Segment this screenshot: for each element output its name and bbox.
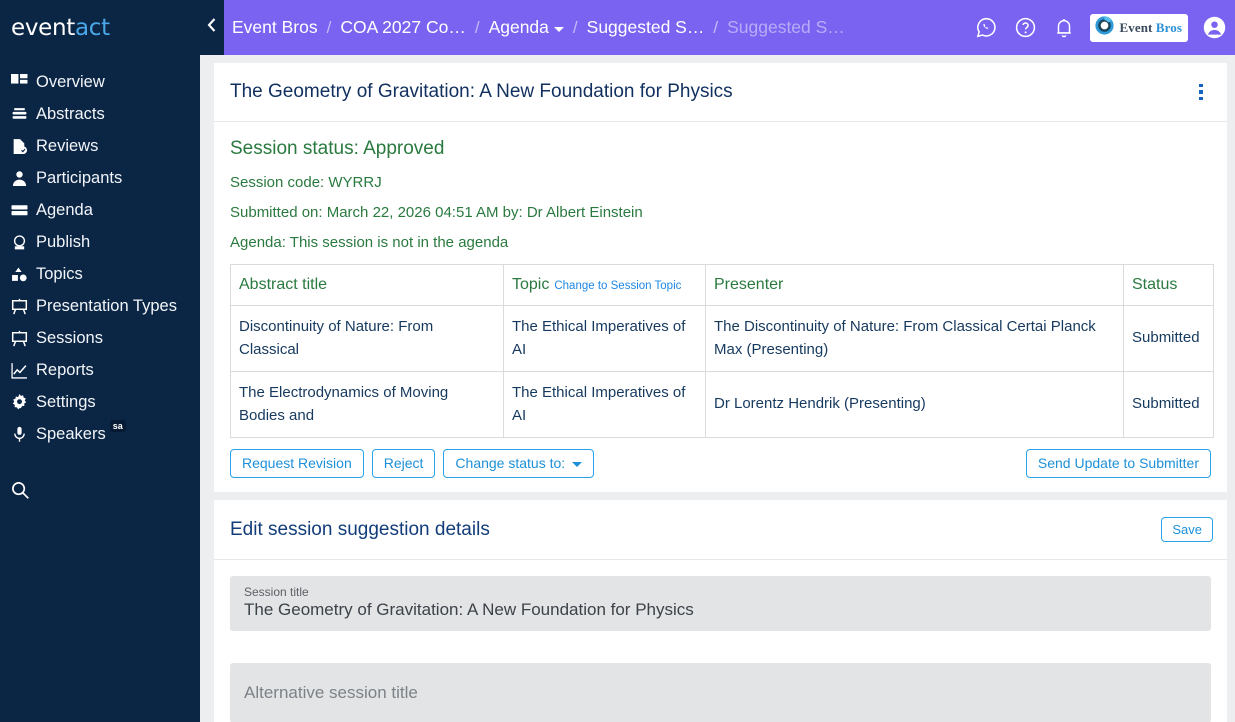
sidebar-item-label: Reviews [36,137,98,156]
column-header-abstract-title: Abstract title [231,265,504,306]
session-code: Session code: WYRRJ [230,174,1211,191]
sidebar-item-sessions[interactable]: Sessions [0,322,200,354]
cell-status: Submitted [1124,306,1214,372]
microphone-icon [11,426,36,443]
breadcrumb-separator: / [573,18,578,38]
app-logo[interactable]: eventact [0,0,200,55]
alternative-session-title-input[interactable]: Alternative session title [244,683,1197,703]
event-bros-swirl-icon [1094,15,1115,41]
column-header-topic: TopicChange to Session Topic [504,265,706,306]
chevron-down-icon [572,462,582,467]
edit-card-title: Edit session suggestion details [230,519,490,541]
sidebar-item-label: Publish [36,233,90,252]
breadcrumb-item-conference[interactable]: COA 2027 Co… [340,17,465,38]
shapes-icon [11,266,36,283]
help-circle-icon[interactable] [1012,15,1038,41]
sidebar-item-label: Presentation Types [36,297,177,316]
status-badge: sa [110,420,126,432]
sidebar-item-label: Participants [36,169,122,188]
reject-button[interactable]: Reject [372,449,436,478]
agenda-bars-icon [11,202,36,219]
session-card-body: Session status: Approved Session code: W… [214,122,1227,492]
sidebar-item-agenda[interactable]: Agenda [0,194,200,226]
search-icon [11,481,36,500]
publish-printer-icon [11,234,36,251]
sidebar-item-presentation-types[interactable]: Presentation Types [0,290,200,322]
column-header-presenter: Presenter [706,265,1124,306]
easel-icon [11,330,36,347]
send-update-to-submitter-button[interactable]: Send Update to Submitter [1026,449,1211,478]
content-scroll-region[interactable]: The Geometry of Gravitation: A New Found… [200,55,1235,722]
chevron-down-icon [554,27,564,32]
cell-topic: The Ethical Imperatives of AI [504,372,706,438]
top-header-bar: Event Bros / COA 2027 Co… / Agenda / Sug… [200,0,1235,55]
main-area: Event Bros / COA 2027 Co… / Agenda / Sug… [200,0,1235,722]
sidebar-item-label-text: Speakers [36,425,106,443]
sidebar-item-label: Overview [36,73,105,92]
cell-abstract-title: Discontinuity of Nature: From Classical [231,306,504,372]
session-title-field[interactable]: Session title The Geometry of Gravitatio… [230,576,1211,631]
alternative-session-title-field[interactable]: Alternative session title [230,663,1211,722]
change-status-dropdown[interactable]: Change status to: [443,449,594,478]
session-action-row: Request Revision Reject Change status to… [230,449,1211,478]
cell-status: Submitted [1124,372,1214,438]
breadcrumb-item-label: Agenda [489,17,549,38]
edit-session-card: Edit session suggestion details Save Ses… [214,500,1227,722]
sidebar-item-abstracts[interactable]: Abstracts [0,98,200,130]
chart-line-icon [11,362,36,379]
edit-card-header: Edit session suggestion details Save [214,500,1227,561]
table-row[interactable]: Discontinuity of Nature: From Classical … [231,306,1214,372]
dashboard-grid-icon [11,74,36,91]
user-avatar-icon[interactable] [1201,15,1227,41]
sidebar-search-button[interactable] [0,474,200,506]
whatsapp-icon[interactable] [973,15,999,41]
request-revision-button[interactable]: Request Revision [230,449,364,478]
breadcrumb-item-suggested-sessions[interactable]: Suggested S… [587,17,705,38]
session-submitted-info: Submitted on: March 22, 2026 04:51 AM by… [230,204,1211,221]
sidebar-item-overview[interactable]: Overview [0,66,200,98]
stacked-layers-icon [11,106,36,123]
session-detail-card: The Geometry of Gravitation: A New Found… [214,63,1227,492]
kebab-menu-icon[interactable] [1189,80,1213,104]
breadcrumb-separator: / [713,18,718,38]
breadcrumb: Event Bros / COA 2027 Co… / Agenda / Sug… [232,17,973,38]
session-title-input[interactable]: The Geometry of Gravitation: A New Found… [244,600,1197,620]
header-actions: Event Bros [973,14,1227,42]
sidebar-item-label: Speakerssa [36,425,106,444]
sidebar-item-publish[interactable]: Publish [0,226,200,258]
edit-card-body: Session title The Geometry of Gravitatio… [214,560,1227,722]
session-title-label: Session title [244,585,1197,599]
column-header-topic-label: Topic [512,276,549,293]
sidebar-item-speakers[interactable]: Speakerssa [0,418,200,450]
chevron-left-icon [205,16,219,39]
bell-icon[interactable] [1051,15,1077,41]
brand-label-event: Event [1119,20,1155,35]
session-status: Session status: Approved [230,138,1211,160]
cell-abstract-title: The Electrodynamics of Moving Bodies and [231,372,504,438]
sidebar-item-settings[interactable]: Settings [0,386,200,418]
sidebar-item-label: Agenda [36,201,93,220]
cell-topic: The Ethical Imperatives of AI [504,306,706,372]
session-agenda-info: Agenda: This session is not in the agend… [230,234,1211,251]
change-to-session-topic-link[interactable]: Change to Session Topic [554,280,681,292]
left-button-group: Request Revision Reject Change status to… [230,449,594,478]
brand-label: Event Bros [1119,20,1182,36]
breadcrumb-item-agenda[interactable]: Agenda [489,17,564,38]
sidebar-item-label: Reports [36,361,94,380]
abstracts-table: Abstract title TopicChange to Session To… [230,264,1214,438]
breadcrumb-item-event-bros[interactable]: Event Bros [232,17,318,38]
page-title: The Geometry of Gravitation: A New Found… [230,81,733,103]
sidebar: eventact Overview Abstracts Revie [0,0,200,722]
sidebar-item-label: Abstracts [36,105,105,124]
app-root: eventact Overview Abstracts Revie [0,0,1235,722]
sidebar-item-participants[interactable]: Participants [0,162,200,194]
sidebar-item-label: Topics [36,265,83,284]
person-icon [11,170,36,187]
logo-text-act: act [75,15,110,41]
easel-icon [11,298,36,315]
column-header-status: Status [1124,265,1214,306]
sidebar-item-label: Sessions [36,329,103,348]
cell-presenter: The Discontinuity of Nature: From Classi… [706,306,1124,372]
sidebar-item-topics[interactable]: Topics [0,258,200,290]
sidebar-nav: Overview Abstracts Reviews Participants [0,66,200,506]
session-card-header: The Geometry of Gravitation: A New Found… [214,63,1227,122]
sidebar-item-label: Settings [36,393,96,412]
cell-presenter: Dr Lorentz Hendrik (Presenting) [706,372,1124,438]
change-status-label: Change status to: [455,455,565,472]
table-header-row: Abstract title TopicChange to Session To… [231,265,1214,306]
sidebar-item-reports[interactable]: Reports [0,354,200,386]
sidebar-collapse-button[interactable] [200,0,224,55]
table-row[interactable]: The Electrodynamics of Moving Bodies and… [231,372,1214,438]
logo-text-event: event [11,15,75,41]
gear-icon [11,394,36,411]
event-bros-brand-chip[interactable]: Event Bros [1090,14,1188,42]
breadcrumb-separator: / [327,18,332,38]
sidebar-item-reviews[interactable]: Reviews [0,130,200,162]
breadcrumb-separator: / [475,18,480,38]
breadcrumb-item-current: Suggested S… [727,17,845,38]
save-button[interactable]: Save [1161,517,1213,543]
document-check-icon [11,138,36,155]
brand-label-bros: Bros [1156,20,1182,35]
